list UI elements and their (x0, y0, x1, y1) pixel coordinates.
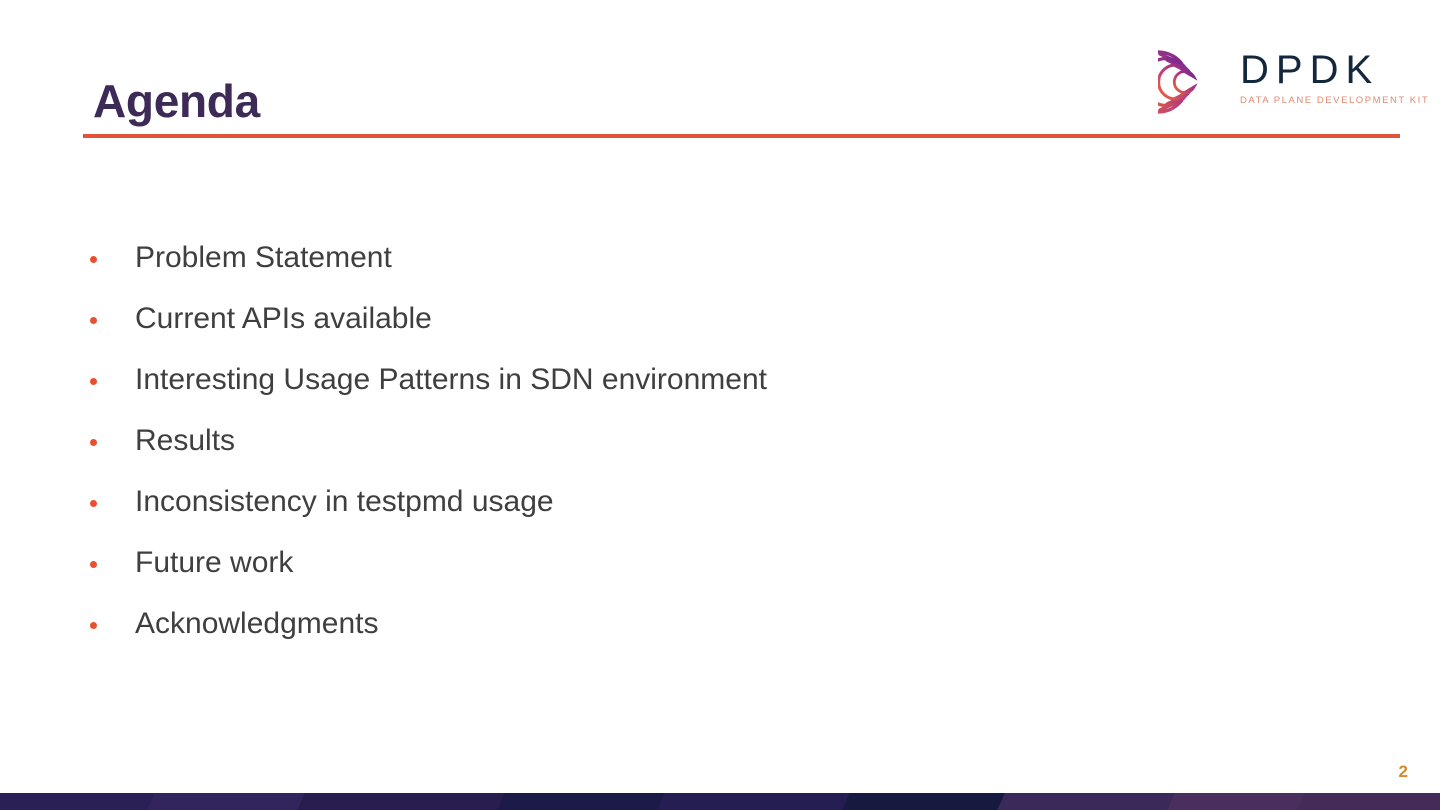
footer-facet (992, 793, 1197, 810)
list-item: Future work (90, 541, 1340, 602)
dpdk-wordmark: DPDK (1240, 46, 1406, 94)
list-item-label: Acknowledgments (135, 602, 1340, 646)
list-item-label: Problem Statement (135, 236, 1340, 280)
page-number: 2 (1399, 762, 1408, 782)
bullet-dot-icon (90, 317, 97, 324)
slide: Agenda (0, 0, 1440, 810)
bullet-dot-icon (90, 256, 97, 263)
list-item-label: Results (135, 419, 1340, 463)
dpdk-logo: DPDK DATA PLANE DEVELOPMENT KIT (1158, 42, 1406, 122)
list-item-label: Inconsistency in testpmd usage (135, 480, 1340, 524)
list-item: Acknowledgments (90, 602, 1340, 663)
bullet-dot-icon (90, 500, 97, 507)
bullet-dot-icon (90, 439, 97, 446)
title-underline-rule (83, 134, 1400, 138)
dpdk-logo-text: DPDK DATA PLANE DEVELOPMENT KIT (1240, 46, 1406, 107)
list-item: Inconsistency in testpmd usage (90, 480, 1340, 541)
bullet-dot-icon (90, 561, 97, 568)
list-item-label: Current APIs available (135, 297, 1340, 341)
list-item: Interesting Usage Patterns in SDN enviro… (90, 358, 1340, 419)
bullet-dot-icon (90, 622, 97, 629)
footer-band (0, 793, 1440, 810)
bullet-dot-icon (90, 378, 97, 385)
dpdk-logo-mark-icon (1158, 44, 1236, 120)
footer-facet (1292, 793, 1440, 810)
dpdk-tagline: DATA PLANE DEVELOPMENT KIT (1240, 95, 1406, 107)
list-item: Results (90, 419, 1340, 480)
list-item: Current APIs available (90, 297, 1340, 358)
list-item: Problem Statement (90, 236, 1340, 297)
list-item-label: Interesting Usage Patterns in SDN enviro… (135, 358, 1340, 402)
agenda-list: Problem Statement Current APIs available… (90, 236, 1340, 663)
list-item-label: Future work (135, 541, 1340, 585)
